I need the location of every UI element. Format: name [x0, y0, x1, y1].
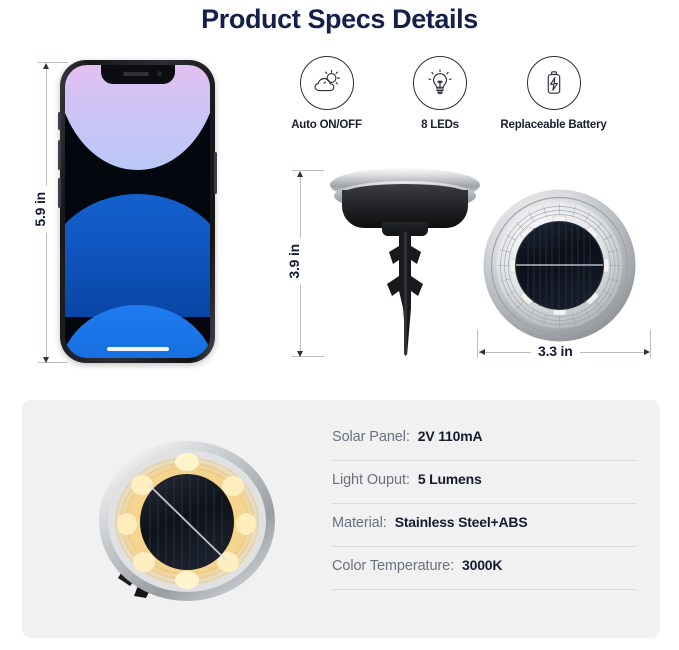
phone-notch [101, 65, 175, 84]
spec-value: 3000K [462, 557, 502, 573]
dimension-label-light-height: 3.9 in [286, 238, 302, 285]
battery-icon [527, 56, 581, 110]
volume-up-button [58, 140, 61, 170]
product-side-view [330, 168, 480, 363]
spec-value: Stainless Steel+ABS [395, 514, 528, 530]
feature-label: 8 LEDs [421, 119, 459, 131]
front-camera-icon [157, 71, 162, 76]
feature-replaceable-battery: Replaceable Battery [497, 56, 610, 131]
feature-auto-on-off: Auto ON/OFF [270, 56, 383, 131]
spec-value: 5 Lumens [418, 471, 482, 487]
spec-value: 2V 110mA [418, 428, 483, 444]
page-title: Product Specs Details [0, 4, 679, 35]
phone-illustration [60, 60, 215, 363]
spec-row-color-temperature: Color Temperature: 3000K [332, 547, 637, 590]
spec-row-light-output: Light Ouput: 5 Lumens [332, 461, 637, 504]
dimension-label-phone-height: 5.9 in [32, 186, 48, 233]
dimension-label-light-width: 3.3 in [531, 343, 580, 359]
earpiece-speaker [123, 72, 149, 76]
phone-screen [65, 65, 210, 358]
home-indicator [107, 347, 169, 351]
spec-label: Color Temperature: [332, 558, 454, 574]
feature-8-leds: 8 LEDs [384, 56, 497, 131]
spec-label: Solar Panel: [332, 429, 410, 445]
power-button [214, 152, 217, 194]
ground-stake-icon [377, 230, 433, 356]
feature-list: Auto ON/OFF 8 LEDs [270, 56, 610, 131]
spec-row-solar-panel: Solar Panel: 2V 110mA [332, 418, 637, 461]
wallpaper-arc-mid [65, 194, 210, 317]
product-top-view [482, 188, 637, 343]
feature-label: Auto ON/OFF [291, 119, 362, 131]
spec-label: Light Ouput: [332, 472, 410, 488]
spec-table: Solar Panel: 2V 110mA Light Ouput: 5 Lum… [332, 418, 637, 590]
mute-switch [58, 112, 61, 130]
spec-row-material: Material: Stainless Steel+ABS [332, 504, 637, 547]
volume-down-button [58, 178, 61, 208]
spec-label: Material: [332, 515, 387, 531]
phone-body [60, 60, 215, 363]
light-bulb-icon [413, 56, 467, 110]
product-hero-photo [80, 428, 290, 614]
sun-cloud-icon [300, 56, 354, 110]
feature-label: Replaceable Battery [500, 119, 606, 131]
spec-panel: Solar Panel: 2V 110mA Light Ouput: 5 Lum… [22, 400, 660, 638]
